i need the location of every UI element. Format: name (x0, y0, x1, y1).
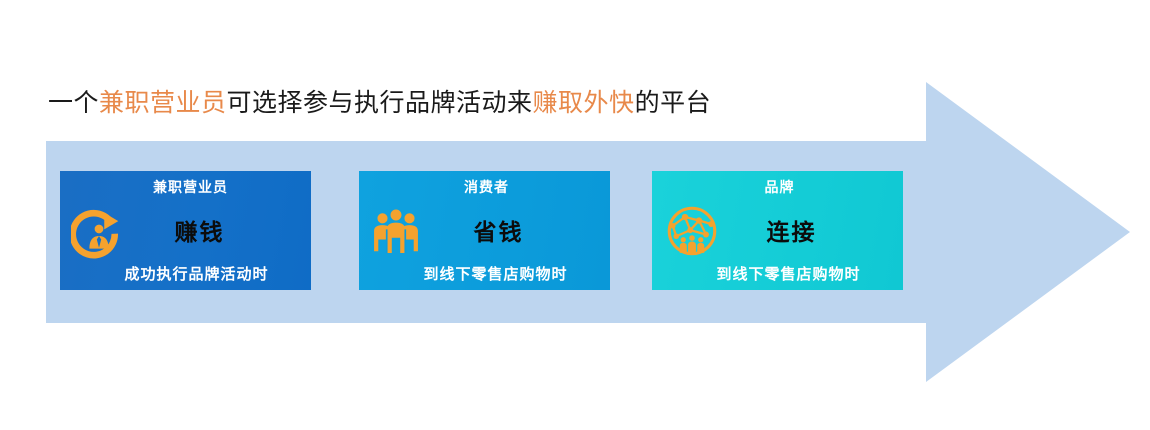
slide-canvas: 一个兼职营业员可选择参与执行品牌活动来赚取外快的平台 兼职营业员 赚钱 成功执行… (0, 0, 1150, 430)
card-worker[interactable]: 兼职营业员 赚钱 成功执行品牌活动时 (60, 171, 311, 290)
card-consumer[interactable]: 消费者 省钱 到线下零售店购物时 (359, 171, 610, 290)
card-worker-footer: 成功执行品牌活动时 (60, 263, 311, 284)
headline-seg-4: 的平台 (635, 88, 712, 117)
card-consumer-title: 消费者 (359, 177, 610, 197)
card-consumer-footer: 到线下零售店购物时 (359, 263, 610, 284)
card-brand-title: 品牌 (652, 177, 903, 197)
card-brand[interactable]: 品牌 连接 到线下零售店购物时 (652, 171, 903, 290)
card-brand-main: 连接 (652, 213, 903, 247)
headline-seg-0: 一个 (48, 88, 99, 117)
headline-seg-1-highlight: 兼职营业员 (99, 88, 227, 117)
card-brand-footer: 到线下零售店购物时 (652, 263, 903, 284)
card-consumer-main: 省钱 (359, 213, 610, 247)
card-worker-main: 赚钱 (60, 213, 311, 247)
card-worker-title: 兼职营业员 (60, 177, 311, 197)
headline-seg-3-highlight: 赚取外快 (533, 88, 635, 117)
headline-seg-2: 可选择参与执行品牌活动来 (227, 88, 533, 117)
page-title: 一个兼职营业员可选择参与执行品牌活动来赚取外快的平台 (48, 86, 711, 120)
